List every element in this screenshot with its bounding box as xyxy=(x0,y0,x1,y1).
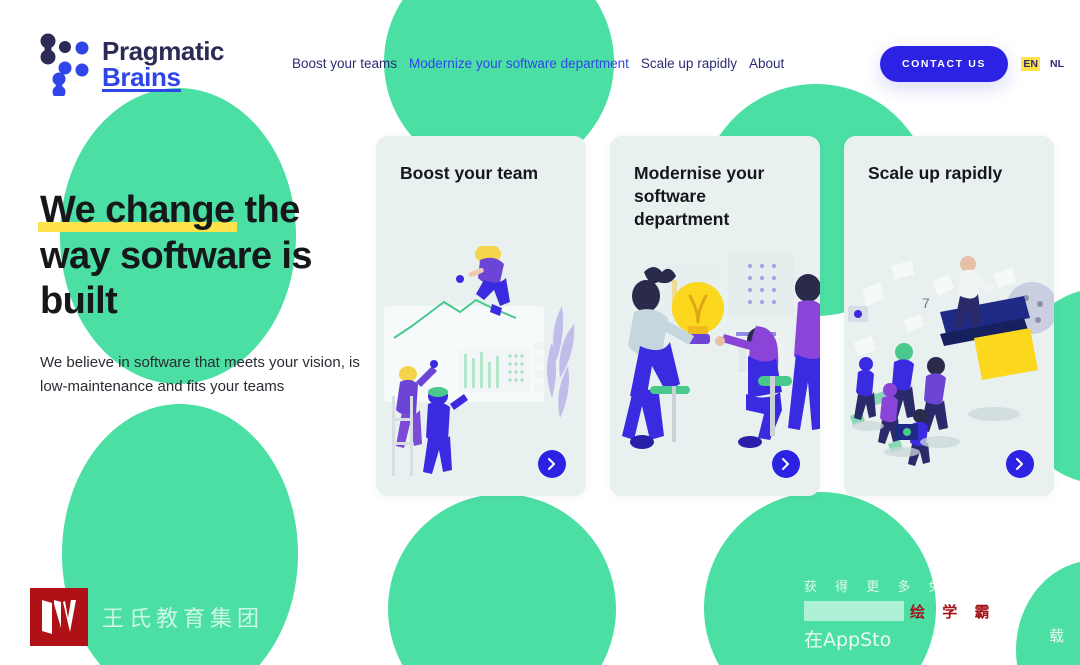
feature-card-scale-up-rapidly[interactable]: Scale up rapidly 7 xyxy=(844,136,1054,496)
w-logo-watermark-icon xyxy=(30,588,88,646)
contact-us-button[interactable]: CONTACT US xyxy=(880,46,1008,82)
language-option-nl[interactable]: NL xyxy=(1048,57,1066,71)
watermark-right-line-3: 在AppSto 载 xyxy=(804,625,1064,652)
language-option-en[interactable]: EN xyxy=(1021,57,1040,71)
chevron-right-icon xyxy=(547,458,557,470)
watermark-right-line-1: 获 得 更 多 免 xyxy=(804,576,1064,595)
card-arrow-button[interactable] xyxy=(772,450,800,478)
hero-subtitle: We believe in software that meets your v… xyxy=(40,351,370,400)
svg-text:7: 7 xyxy=(922,295,930,311)
watermark-appstore-text: 在AppSto xyxy=(804,625,891,652)
feature-cards: Boost your team xyxy=(376,136,1054,496)
card-title: Scale up rapidly xyxy=(868,162,1036,185)
decorative-circle-bottom-middle xyxy=(388,494,616,665)
brand-wordmark: Pragmatic Brains xyxy=(102,38,224,90)
headline-highlight: We change xyxy=(40,188,235,234)
nav-item-modernize-software[interactable]: Modernize your software department xyxy=(409,56,629,71)
watermark-left: 王氏教育集团 xyxy=(30,588,264,646)
card-arrow-button[interactable] xyxy=(538,450,566,478)
card-title: Boost your team xyxy=(400,162,568,185)
main-navigation: Boost your teams Modernize your software… xyxy=(292,56,784,71)
brand-line-1: Pragmatic xyxy=(102,38,224,64)
nav-item-scale-up-rapidly[interactable]: Scale up rapidly xyxy=(641,56,737,71)
watermark-bar xyxy=(804,601,904,621)
watermark-left-text: 王氏教育集团 xyxy=(102,601,264,633)
chevron-right-icon xyxy=(781,458,791,470)
language-switcher: EN NL xyxy=(1021,57,1066,71)
pragmatic-brains-dots-logo-icon xyxy=(38,32,90,96)
brand-line-2: Brains xyxy=(102,64,181,90)
w-letter-glyph xyxy=(30,588,88,646)
card-title: Modernise your software department xyxy=(634,162,802,230)
watermark-tail-text: 载 xyxy=(1049,625,1064,652)
card-arrow-button[interactable] xyxy=(1006,450,1034,478)
watermark-brand-text: 绘 学 霸 xyxy=(910,601,995,622)
watermark-right: 获 得 更 多 免 绘 学 霸 在AppSto 载 xyxy=(804,576,1064,652)
watermark-right-line-2: 绘 学 霸 xyxy=(804,600,1064,622)
chevron-right-icon xyxy=(1015,458,1025,470)
page-title: We change the way software is built xyxy=(40,188,370,325)
feature-card-boost-your-team[interactable]: Boost your team xyxy=(376,136,586,496)
site-header: Pragmatic Brains Boost your teams Modern… xyxy=(0,0,1080,128)
hero-section: We change the way software is built We b… xyxy=(40,188,370,399)
feature-card-modernise-software-department[interactable]: Modernise your software department xyxy=(610,136,820,496)
brand-logo[interactable]: Pragmatic Brains xyxy=(38,32,224,96)
page-root: Pragmatic Brains Boost your teams Modern… xyxy=(0,0,1080,665)
nav-item-boost-your-teams[interactable]: Boost your teams xyxy=(292,56,397,71)
nav-item-about[interactable]: About xyxy=(749,56,784,71)
